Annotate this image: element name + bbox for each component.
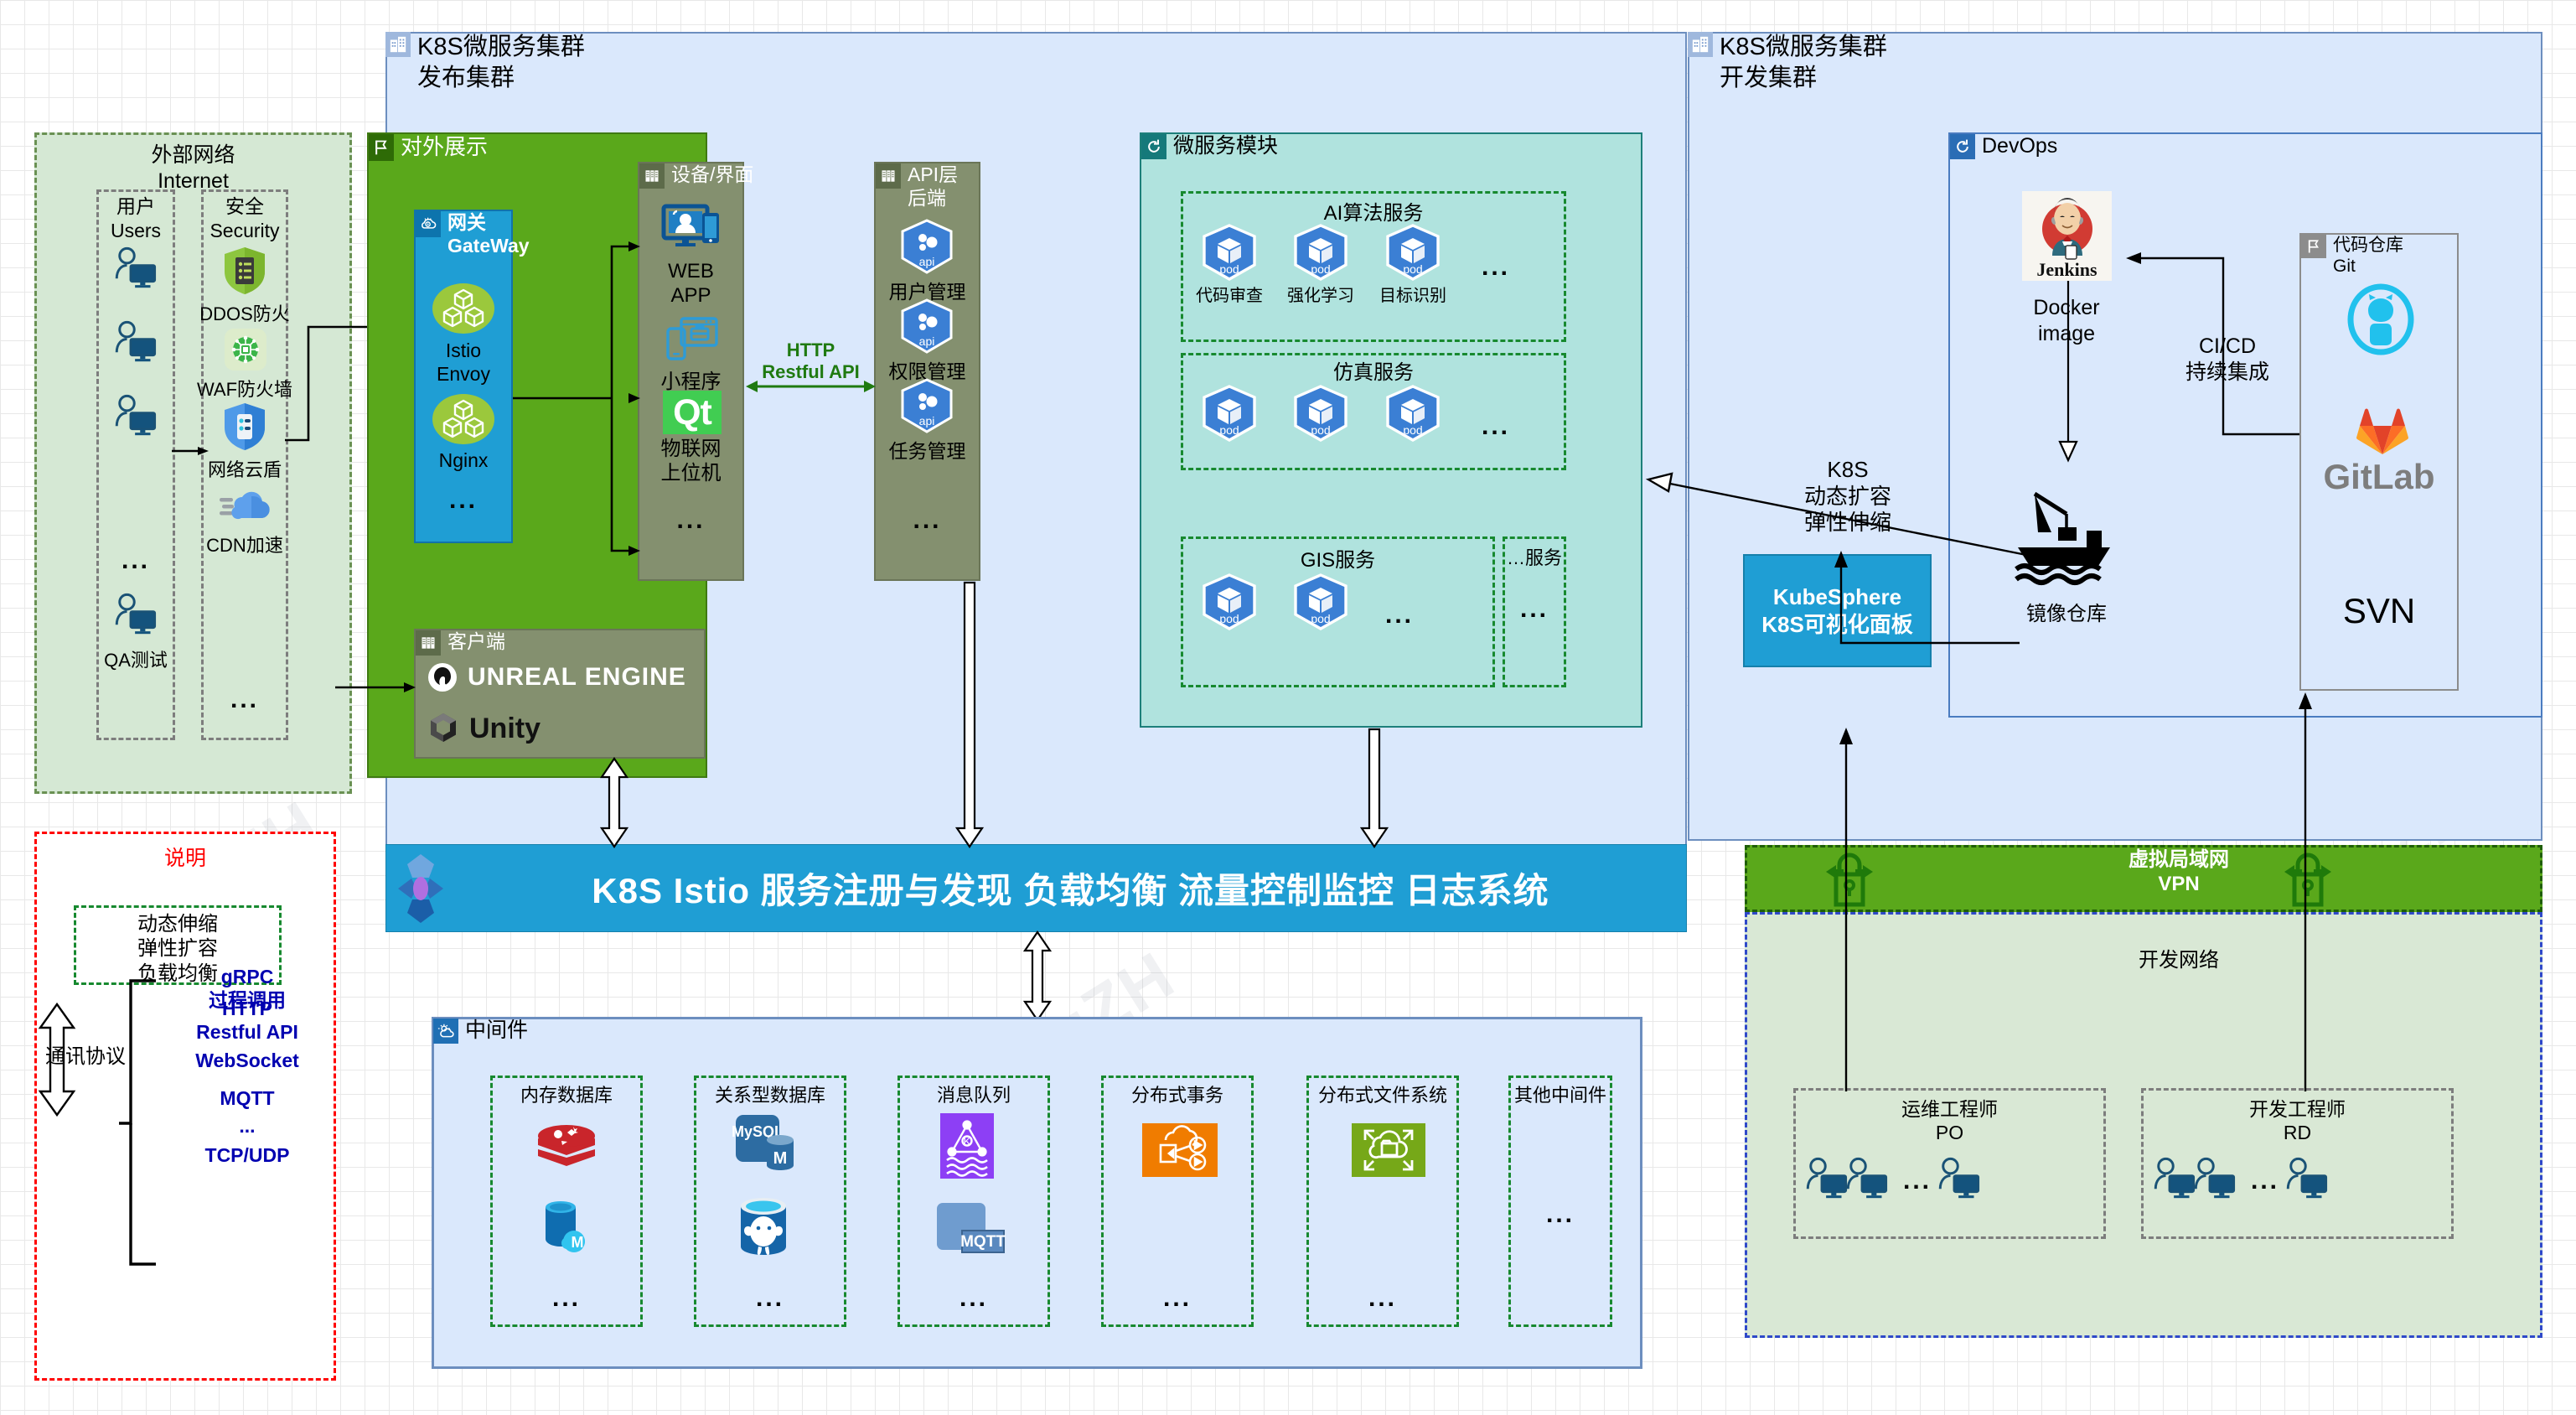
qa-test-label: QA测试 — [92, 645, 179, 672]
other-service-dots: ... — [1503, 602, 1566, 617]
mqtt-logo: MQTT — [937, 1203, 1004, 1262]
rack-icon — [639, 163, 665, 189]
message-queue-dots: ... — [897, 1291, 1050, 1306]
ai-service-title: AI算法服务 — [1181, 196, 1566, 225]
flag-icon — [369, 134, 394, 161]
building-icon — [1688, 32, 1713, 57]
legend-protocol-mqtt: MQTT — [159, 1087, 335, 1110]
dev-cluster-title: K8S微服务集群 开发集群 — [1720, 32, 1887, 94]
shield-green-icon — [223, 246, 266, 295]
cloud-shield-label: 网络云盾 — [196, 455, 293, 482]
client-to-mesh-arrow — [599, 759, 629, 847]
pod-caption: 目标识别 — [1368, 282, 1458, 306]
ai-service-dots: ... — [1471, 260, 1521, 275]
svg-text:pod: pod — [1403, 262, 1422, 276]
unity-label: Unity — [469, 713, 541, 745]
unreal-engine-label: UNREAL ENGINE — [468, 663, 686, 692]
ops-team-title: 运维工程师 PO — [1793, 1098, 2106, 1144]
external-display-header: 对外展示 — [369, 134, 488, 161]
github-logo — [2347, 285, 2414, 354]
svg-text:pod: pod — [1311, 262, 1330, 276]
relational-db-dots: ... — [694, 1291, 846, 1306]
mesh-icon — [386, 853, 455, 925]
mysql-logo: MySQLM — [734, 1113, 803, 1177]
gateway-dots: ... — [414, 493, 513, 508]
miniprogram-icon — [666, 317, 718, 360]
task-mgmt-label: 任务管理 — [874, 435, 980, 464]
pod-icon: pod — [1199, 225, 1260, 282]
simulation-service-title: 仿真服务 — [1181, 355, 1566, 385]
users-title: 用户 Users — [96, 194, 175, 243]
code-repo-title: 代码仓库 Git — [2333, 235, 2403, 277]
pod-icon: pod — [1199, 386, 1260, 443]
api-pod-icon: api — [897, 220, 956, 275]
web-app-icon — [662, 205, 721, 253]
client-header: 客户端 — [416, 630, 505, 656]
gitlab-logo — [2356, 407, 2408, 456]
memcached-logo: M — [541, 1197, 594, 1254]
rack-icon — [416, 630, 441, 656]
building-icon — [385, 32, 411, 57]
microservices-title: 微服务模块 — [1173, 134, 1278, 159]
devops-header: DevOps — [1950, 134, 2057, 159]
gateway-cloud-icon — [416, 211, 441, 237]
message-queue-title: 消息队列 — [897, 1081, 1050, 1107]
svg-text:api: api — [919, 255, 935, 268]
memory-db-dots: ... — [490, 1291, 643, 1306]
pod-icon: pod — [1291, 386, 1351, 443]
svg-text:api: api — [919, 414, 935, 428]
devops-title: DevOps — [1982, 134, 2057, 159]
api-to-mesh-arrow — [954, 583, 985, 847]
devices-title: 设备/界面 — [671, 163, 753, 186]
dev-team-to-repo-line — [2294, 681, 2316, 1091]
middleware-header: 中间件 — [433, 1018, 528, 1044]
legend-title: 说明 — [34, 842, 336, 872]
publish-cluster-header: K8S微服务集群 发布集群 — [385, 32, 585, 94]
pod-icon: pod — [1291, 225, 1351, 282]
ops-team-to-kubesphere-line — [1835, 662, 1857, 1091]
other-middleware-title: 其他中间件 — [1505, 1081, 1616, 1107]
pod-icon: pod — [1383, 225, 1443, 282]
docker-image-arrow — [2059, 281, 2077, 482]
other-middleware-dots: ... — [1508, 1207, 1612, 1222]
unity-logo: Unity — [426, 711, 541, 746]
svg-text:K: K — [964, 1135, 971, 1148]
user-computer-icon — [1936, 1155, 1983, 1202]
jenkins-logo: Jenkins — [2022, 191, 2112, 281]
ops-team-dots: ... — [1892, 1174, 1942, 1189]
svg-text:pod: pod — [1311, 423, 1330, 437]
redis-logo — [536, 1119, 597, 1174]
gitlab-label: GitLab — [2299, 457, 2459, 497]
jenkins-label: Jenkins — [2036, 259, 2097, 281]
api-pod-icon: api — [897, 299, 956, 355]
iot-host-label: 物联网 上位机 — [638, 438, 744, 486]
external-display-title: 对外展示 — [401, 134, 488, 160]
pod-icon: pod — [1199, 574, 1260, 631]
svg-text:pod: pod — [1311, 612, 1330, 625]
refresh-icon — [1141, 134, 1166, 159]
relational-db-title: 关系型数据库 — [694, 1081, 846, 1107]
registry-to-kubesphere-arrow — [1831, 549, 2024, 645]
simulation-service-dots: ... — [1471, 419, 1521, 434]
security-dots: ... — [201, 692, 288, 707]
legend-protocol-websocket: WebSocket — [159, 1050, 335, 1072]
cloud-files-icon — [1352, 1123, 1425, 1177]
svn-label: SVN — [2299, 591, 2459, 631]
pod-icon: pod — [1291, 574, 1351, 631]
transaction-icon — [1142, 1123, 1218, 1177]
distributed-transaction-title: 分布式事务 — [1101, 1081, 1254, 1107]
security-title: 安全 Security — [201, 194, 288, 243]
gis-service-title: GIS服务 — [1181, 543, 1495, 573]
client-title: 客户端 — [447, 630, 505, 653]
gateway-to-devices-arrows — [513, 235, 640, 587]
gis-service-dots: ... — [1374, 608, 1425, 623]
service-mesh-bar: K8S Istio 服务注册与发现 负载均衡 流量控制监控 日志系统 — [385, 844, 1687, 932]
api-layer-dots: ... — [874, 513, 980, 528]
istio-cubes-icon — [432, 283, 494, 334]
waf-chip-icon — [225, 329, 266, 371]
api-layer-title: API层 后端 — [908, 163, 958, 210]
devices-dots: ... — [638, 513, 744, 528]
distributed-filesystem-dots: ... — [1306, 1291, 1459, 1306]
api-layer-header: API层 后端 — [876, 163, 958, 210]
svg-text:M: M — [572, 1234, 584, 1251]
user-computer-icon — [1844, 1155, 1891, 1202]
svg-text:api: api — [919, 334, 935, 348]
pod-icon: pod — [1383, 386, 1443, 443]
image-registry-label: 镜像仓库 — [2008, 597, 2125, 626]
legend-protocol-more: ... — [159, 1115, 335, 1138]
postgresql-logo — [737, 1195, 793, 1257]
qt-logo: Qt — [663, 391, 722, 434]
user-computer-icon — [2191, 1155, 2238, 1202]
svg-text:pod: pod — [1219, 423, 1239, 437]
middleware-title: 中间件 — [465, 1018, 528, 1044]
microservices-to-mesh-arrow — [1359, 729, 1389, 847]
other-service-title: …服务 — [1503, 543, 1566, 570]
mesh-to-middleware-arrow — [1022, 932, 1053, 1020]
http-restful-label: HTTP Restful API — [746, 339, 876, 384]
api-pod-icon: api — [897, 379, 956, 434]
distributed-filesystem-title: 分布式文件系统 — [1306, 1081, 1459, 1107]
users-to-security-arrow — [172, 444, 209, 458]
svg-text:pod: pod — [1403, 423, 1422, 437]
nginx-cubes-icon — [432, 394, 494, 444]
kafka-logo: K — [940, 1113, 994, 1179]
user-computer-icon — [112, 319, 159, 365]
service-mesh-text: K8S Istio 服务注册与发现 负载均衡 流量控制监控 日志系统 — [455, 863, 1686, 914]
legend-protocol-http: HTTP Restful API — [159, 998, 335, 1044]
microservices-header: 微服务模块 — [1141, 134, 1278, 159]
user-computer-icon — [112, 392, 159, 439]
cdn-accel-label: CDN加速 — [196, 531, 293, 557]
memory-db-title: 内存数据库 — [490, 1081, 643, 1107]
pod-caption: 强化学习 — [1275, 282, 1366, 306]
scaling-arrow — [1638, 465, 2041, 562]
svg-text:MQTT: MQTT — [960, 1233, 1006, 1251]
dev-cluster-header: K8S微服务集群 开发集群 — [1688, 32, 1887, 94]
publish-cluster-title: K8S微服务集群 发布集群 — [417, 32, 585, 94]
unreal-engine-logo: UNREAL ENGINE — [427, 662, 686, 692]
shield-blue-icon — [223, 402, 266, 451]
svg-text:pod: pod — [1219, 262, 1239, 276]
pod-caption: 代码审查 — [1184, 282, 1275, 306]
rack-icon — [876, 163, 901, 189]
distributed-transaction-dots: ... — [1101, 1291, 1254, 1306]
web-app-label: WEB APP — [638, 260, 744, 308]
external-network-title: 外部网络 Internet — [34, 143, 352, 195]
legend-bracket — [117, 979, 159, 1266]
cloud-speed-icon — [220, 486, 272, 525]
security-to-client-arrow — [335, 681, 416, 694]
cicd-arrow — [2116, 241, 2325, 438]
dev-team-dots: ... — [2240, 1174, 2290, 1189]
cloud-sun-icon — [433, 1018, 458, 1044]
refresh-icon — [1950, 134, 1975, 159]
devices-header: 设备/界面 — [639, 163, 753, 189]
svg-text:M: M — [773, 1149, 788, 1168]
gateway-item-istio: Istio Envoy — [414, 339, 513, 386]
dev-team-title: 开发工程师 RD — [2141, 1098, 2454, 1144]
legend-protocol-tcpudp: TCP/UDP — [159, 1144, 335, 1167]
svg-text:pod: pod — [1219, 612, 1239, 625]
users-dots: ... — [96, 553, 175, 568]
gateway-item-nginx: Nginx — [414, 449, 513, 472]
miniprogram-label: 小程序 — [638, 365, 744, 394]
waf-firewall-label: WAF防火墙 — [196, 375, 293, 402]
user-computer-icon — [2284, 1155, 2330, 1202]
code-repo-header: 代码仓库 Git — [2301, 235, 2403, 277]
user-computer-icon — [112, 245, 159, 292]
user-computer-icon — [112, 591, 159, 638]
flag-icon — [2301, 235, 2326, 258]
